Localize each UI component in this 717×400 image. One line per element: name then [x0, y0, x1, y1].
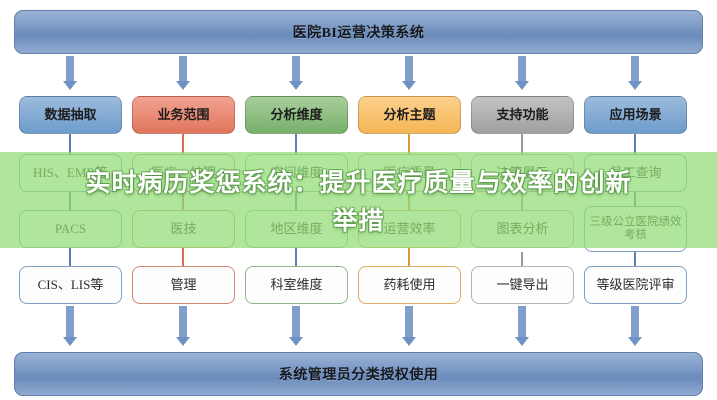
arrow-col-4-to-bottom [402, 306, 416, 346]
connector-col6-r2-r3 [634, 134, 636, 154]
connector-col4-r2-r3 [408, 134, 410, 154]
connector-col5-r4-r5 [521, 252, 523, 266]
arrow-col-3-to-bottom [289, 306, 303, 346]
node-col5-row3[interactable]: 一键导出 [471, 266, 574, 304]
connector-col2-r4-r5 [182, 248, 184, 266]
column-header-application-scenario[interactable]: 应用场景 [584, 96, 687, 134]
node-col1-row3[interactable]: CIS、LIS等 [19, 266, 122, 304]
connector-col3-r4-r5 [295, 248, 297, 266]
overlay-green-banner [0, 152, 717, 248]
top-system-bar: 医院BI运营决策系统 [14, 10, 703, 54]
arrow-top-to-col-3 [289, 56, 303, 90]
connector-col5-r2-r3 [521, 134, 523, 154]
arrow-col-6-to-bottom [628, 306, 642, 346]
connector-col2-r2-r3 [182, 134, 184, 154]
arrow-col-2-to-bottom [176, 306, 190, 346]
arrow-top-to-col-2 [176, 56, 190, 90]
node-col4-row3[interactable]: 药耗使用 [358, 266, 461, 304]
column-header-analysis-topic[interactable]: 分析主题 [358, 96, 461, 134]
arrow-col-1-to-bottom [63, 306, 77, 346]
arrow-top-to-col-1 [63, 56, 77, 90]
connector-col3-r2-r3 [295, 134, 297, 154]
connector-col6-r4-r5 [634, 252, 636, 266]
node-col3-row3[interactable]: 科室维度 [245, 266, 348, 304]
node-col6-row3[interactable]: 等级医院评审 [584, 266, 687, 304]
bi-architecture-diagram: 医院BI运营决策系统 数据抽取 业务范围 分析维度 分析主题 支持功能 应用场景… [0, 0, 717, 400]
connector-col1-r4-r5 [69, 248, 71, 266]
connector-col4-r4-r5 [408, 248, 410, 266]
connector-col1-r2-r3 [69, 134, 71, 154]
node-col2-row3[interactable]: 管理 [132, 266, 235, 304]
column-header-support-function[interactable]: 支持功能 [471, 96, 574, 134]
bottom-system-bar: 系统管理员分类授权使用 [14, 352, 703, 396]
column-header-analysis-dimension[interactable]: 分析维度 [245, 96, 348, 134]
column-header-data-extraction[interactable]: 数据抽取 [19, 96, 122, 134]
arrow-col-5-to-bottom [515, 306, 529, 346]
arrow-top-to-col-5 [515, 56, 529, 90]
arrow-top-to-col-4 [402, 56, 416, 90]
column-header-business-scope[interactable]: 业务范围 [132, 96, 235, 134]
arrow-top-to-col-6 [628, 56, 642, 90]
